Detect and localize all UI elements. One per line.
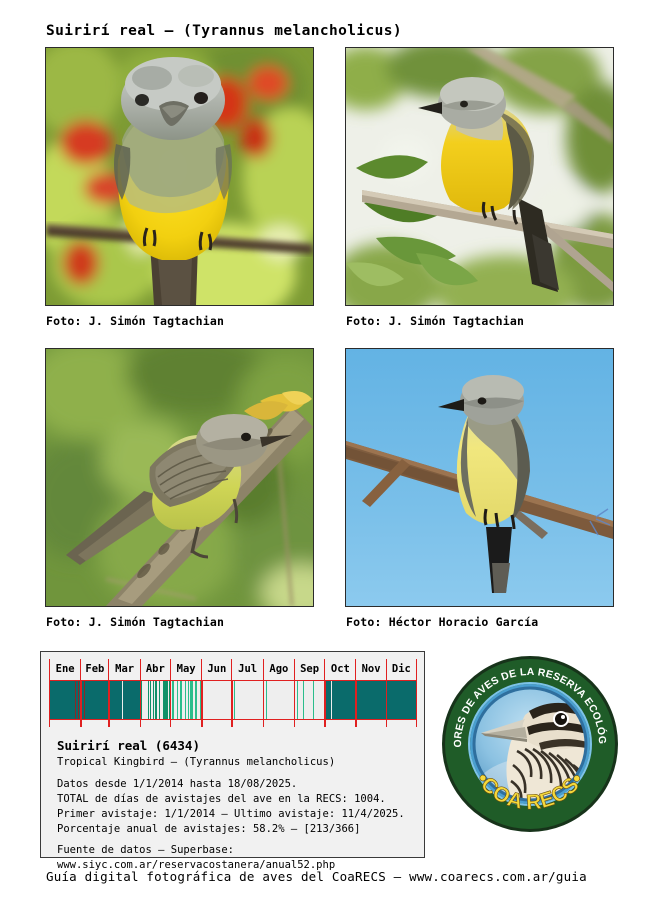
calendar-month-oct: Oct (324, 659, 355, 680)
calendar-foot-tick (355, 720, 356, 727)
photo-4-caption: Foto: Héctor Horacio García (346, 615, 538, 629)
calendar-month-may: May (170, 659, 201, 680)
calendar-month-ene: Ene (49, 659, 80, 680)
calendar-day-tick (351, 681, 352, 719)
photo-1[interactable] (45, 47, 314, 306)
calendar-day-tick (159, 681, 160, 719)
calendar-gridline (416, 681, 417, 719)
page-footer: Guía digital fotográfica de aves del Coa… (46, 869, 587, 884)
photo-3[interactable] (45, 348, 314, 607)
calendar-day-tick (188, 681, 189, 719)
calendar-day-tick (121, 681, 122, 719)
calendar-day-tick (177, 681, 178, 719)
calendar-gridline (170, 681, 171, 719)
calendar-gridline (355, 681, 356, 719)
calendar-foot-tick (324, 720, 325, 727)
species-name: Suirirí real (6434) (57, 738, 200, 753)
calendar-gridline (49, 681, 50, 719)
photo-4-image (346, 349, 613, 606)
calendar-month-sep: Sep (294, 659, 324, 680)
calendar-month-feb: Feb (80, 659, 108, 680)
calendar-foot-tick (201, 720, 202, 727)
stat-annual-percentage: Porcentaje anual de avistajes: 58.2% – [… (57, 823, 360, 835)
calendar-month-mar: Mar (108, 659, 139, 680)
calendar-month-ago: Ago (263, 659, 294, 680)
calendar-gridline (201, 681, 202, 719)
calendar-foot-tick (108, 720, 109, 727)
calendar-foot-tick (294, 720, 295, 727)
calendar-footer-ticks (49, 720, 417, 727)
calendar-day-tick (185, 681, 186, 719)
species-english-name: Tropical Kingbird – (Tyrannus melancholi… (57, 756, 335, 768)
calendar-day-tick (153, 681, 154, 719)
photo-2-caption: Foto: J. Simón Tagtachian (346, 314, 524, 328)
sighting-calendar[interactable]: EneFebMarAbrMayJunJulAgoSepOctNovDic (49, 659, 417, 727)
calendar-month-nov: Nov (355, 659, 385, 680)
photo-3-caption: Foto: J. Simón Tagtachian (46, 615, 224, 629)
calendar-month-headers: EneFebMarAbrMayJunJulAgoSepOctNovDic (49, 659, 417, 680)
calendar-gridline (231, 681, 232, 719)
photo-1-image (46, 48, 313, 305)
calendar-day-tick (173, 681, 174, 719)
calendar-gridline (294, 681, 295, 719)
calendar-foot-tick (231, 720, 232, 727)
calendar-day-tick (148, 681, 149, 719)
calendar-foot-tick (416, 720, 417, 727)
calendar-month-abr: Abr (140, 659, 170, 680)
calendar-day-tick (196, 681, 197, 719)
calendar-month-dic: Dic (386, 659, 417, 680)
calendar-day-tick (156, 681, 157, 719)
coarecs-logo[interactable]: CLUB DE OBSERVADORES DE AVES DE LA RESER… (441, 655, 619, 833)
calendar-day-tick (266, 681, 267, 719)
calendar-day-tick (192, 681, 193, 719)
calendar-day-tick (303, 681, 304, 719)
calendar-gridline (324, 681, 325, 719)
calendar-gridline (80, 681, 81, 719)
calendar-foot-tick (80, 720, 81, 727)
stats-panel: EneFebMarAbrMayJunJulAgoSepOctNovDic Sui… (40, 651, 425, 858)
stat-date-range: Datos desde 1/1/2014 hasta 18/08/2025. (57, 778, 297, 790)
photo-4[interactable] (345, 348, 614, 607)
photo-1-caption: Foto: J. Simón Tagtachian (46, 314, 224, 328)
photo-3-image (46, 349, 313, 606)
calendar-gridline (108, 681, 109, 719)
page-title: Suirirí real – (Tyrannus melancholicus) (46, 23, 402, 39)
source-label: Fuente de datos – Superbase: (57, 844, 234, 856)
calendar-gridline (263, 681, 264, 719)
photo-2-image (346, 48, 613, 305)
calendar-density-bar (49, 680, 417, 720)
calendar-day-tick (297, 681, 298, 719)
calendar-foot-tick (170, 720, 171, 727)
calendar-month-jul: Jul (231, 659, 262, 680)
calendar-day-tick (313, 681, 314, 719)
stat-first-last: Primer avistaje: 1/1/2014 – Ultimo avist… (57, 808, 405, 820)
calendar-day-tick (167, 681, 168, 719)
calendar-foot-tick (49, 720, 50, 727)
calendar-month-jun: Jun (201, 659, 231, 680)
calendar-foot-tick (386, 720, 387, 727)
calendar-foot-tick (140, 720, 141, 727)
calendar-day-tick (150, 681, 151, 719)
calendar-gridline (386, 681, 387, 719)
calendar-day-tick (330, 681, 331, 719)
guide-page: Suirirí real – (Tyrannus melancholicus) (0, 0, 660, 910)
calendar-day-tick (181, 681, 182, 719)
stat-total-days: TOTAL de días de avistajes del ave en la… (57, 793, 386, 805)
calendar-foot-tick (263, 720, 264, 727)
calendar-gridline (140, 681, 141, 719)
calendar-day-tick (234, 681, 235, 719)
photo-2[interactable] (345, 47, 614, 306)
